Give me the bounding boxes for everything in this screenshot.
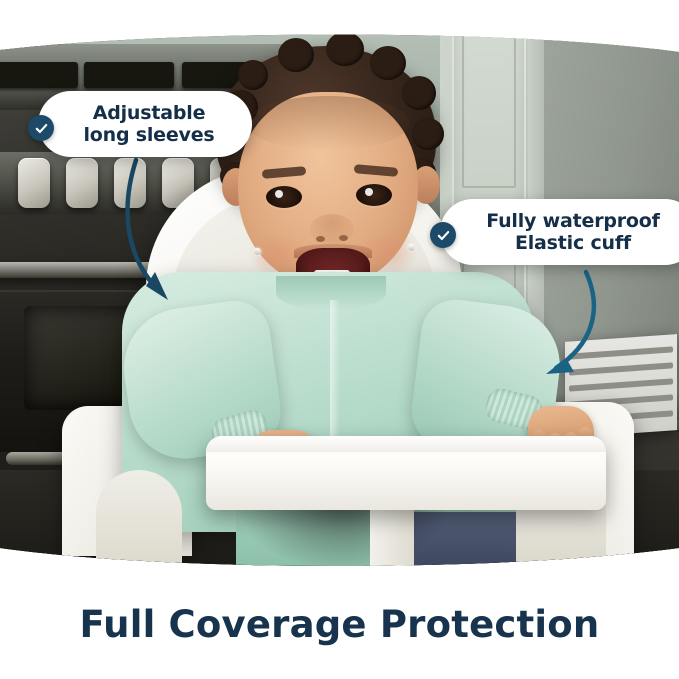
callout-line2: long sleeves [83, 124, 214, 146]
product-photo [0, 0, 679, 570]
check-circle-icon [28, 115, 54, 141]
product-feature-graphic: Adjustable long sleeves Fully waterproof… [0, 0, 679, 679]
footer-banner: Full Coverage Protection [0, 570, 679, 679]
stove-knob [18, 158, 50, 208]
baby-eye-right [356, 184, 392, 206]
callout-text-right: Fully waterproof Elastic cuff [486, 210, 659, 255]
baby-nostril [316, 236, 325, 242]
baby-forehead-shading [246, 96, 410, 150]
check-circle-icon [430, 222, 456, 248]
callout-fully-waterproof-elastic-cuff[interactable]: Fully waterproof Elastic cuff [440, 199, 679, 265]
stove-grate [84, 62, 174, 88]
callout-line1: Adjustable [93, 102, 206, 124]
seat-shadow [238, 500, 448, 570]
stove-knob [66, 158, 98, 208]
baby-eye-left [266, 186, 302, 208]
baby-nostril [339, 235, 348, 241]
baby-earring-right [408, 244, 415, 251]
callout-text-left: Adjustable long sleeves [83, 102, 214, 147]
high-chair-tray-lip [206, 436, 606, 452]
callout-line1: Fully waterproof [486, 210, 659, 232]
callout-adjustable-long-sleeves[interactable]: Adjustable long sleeves [38, 91, 252, 157]
kitchen-scene [0, 0, 679, 570]
footer-headline: Full Coverage Protection [80, 603, 600, 646]
stove-grate [0, 62, 78, 88]
baby-earring-left [254, 248, 261, 255]
callout-line2: Elastic cuff [515, 232, 631, 254]
high-chair-arch-left [96, 470, 182, 566]
stove-knob [114, 158, 146, 208]
